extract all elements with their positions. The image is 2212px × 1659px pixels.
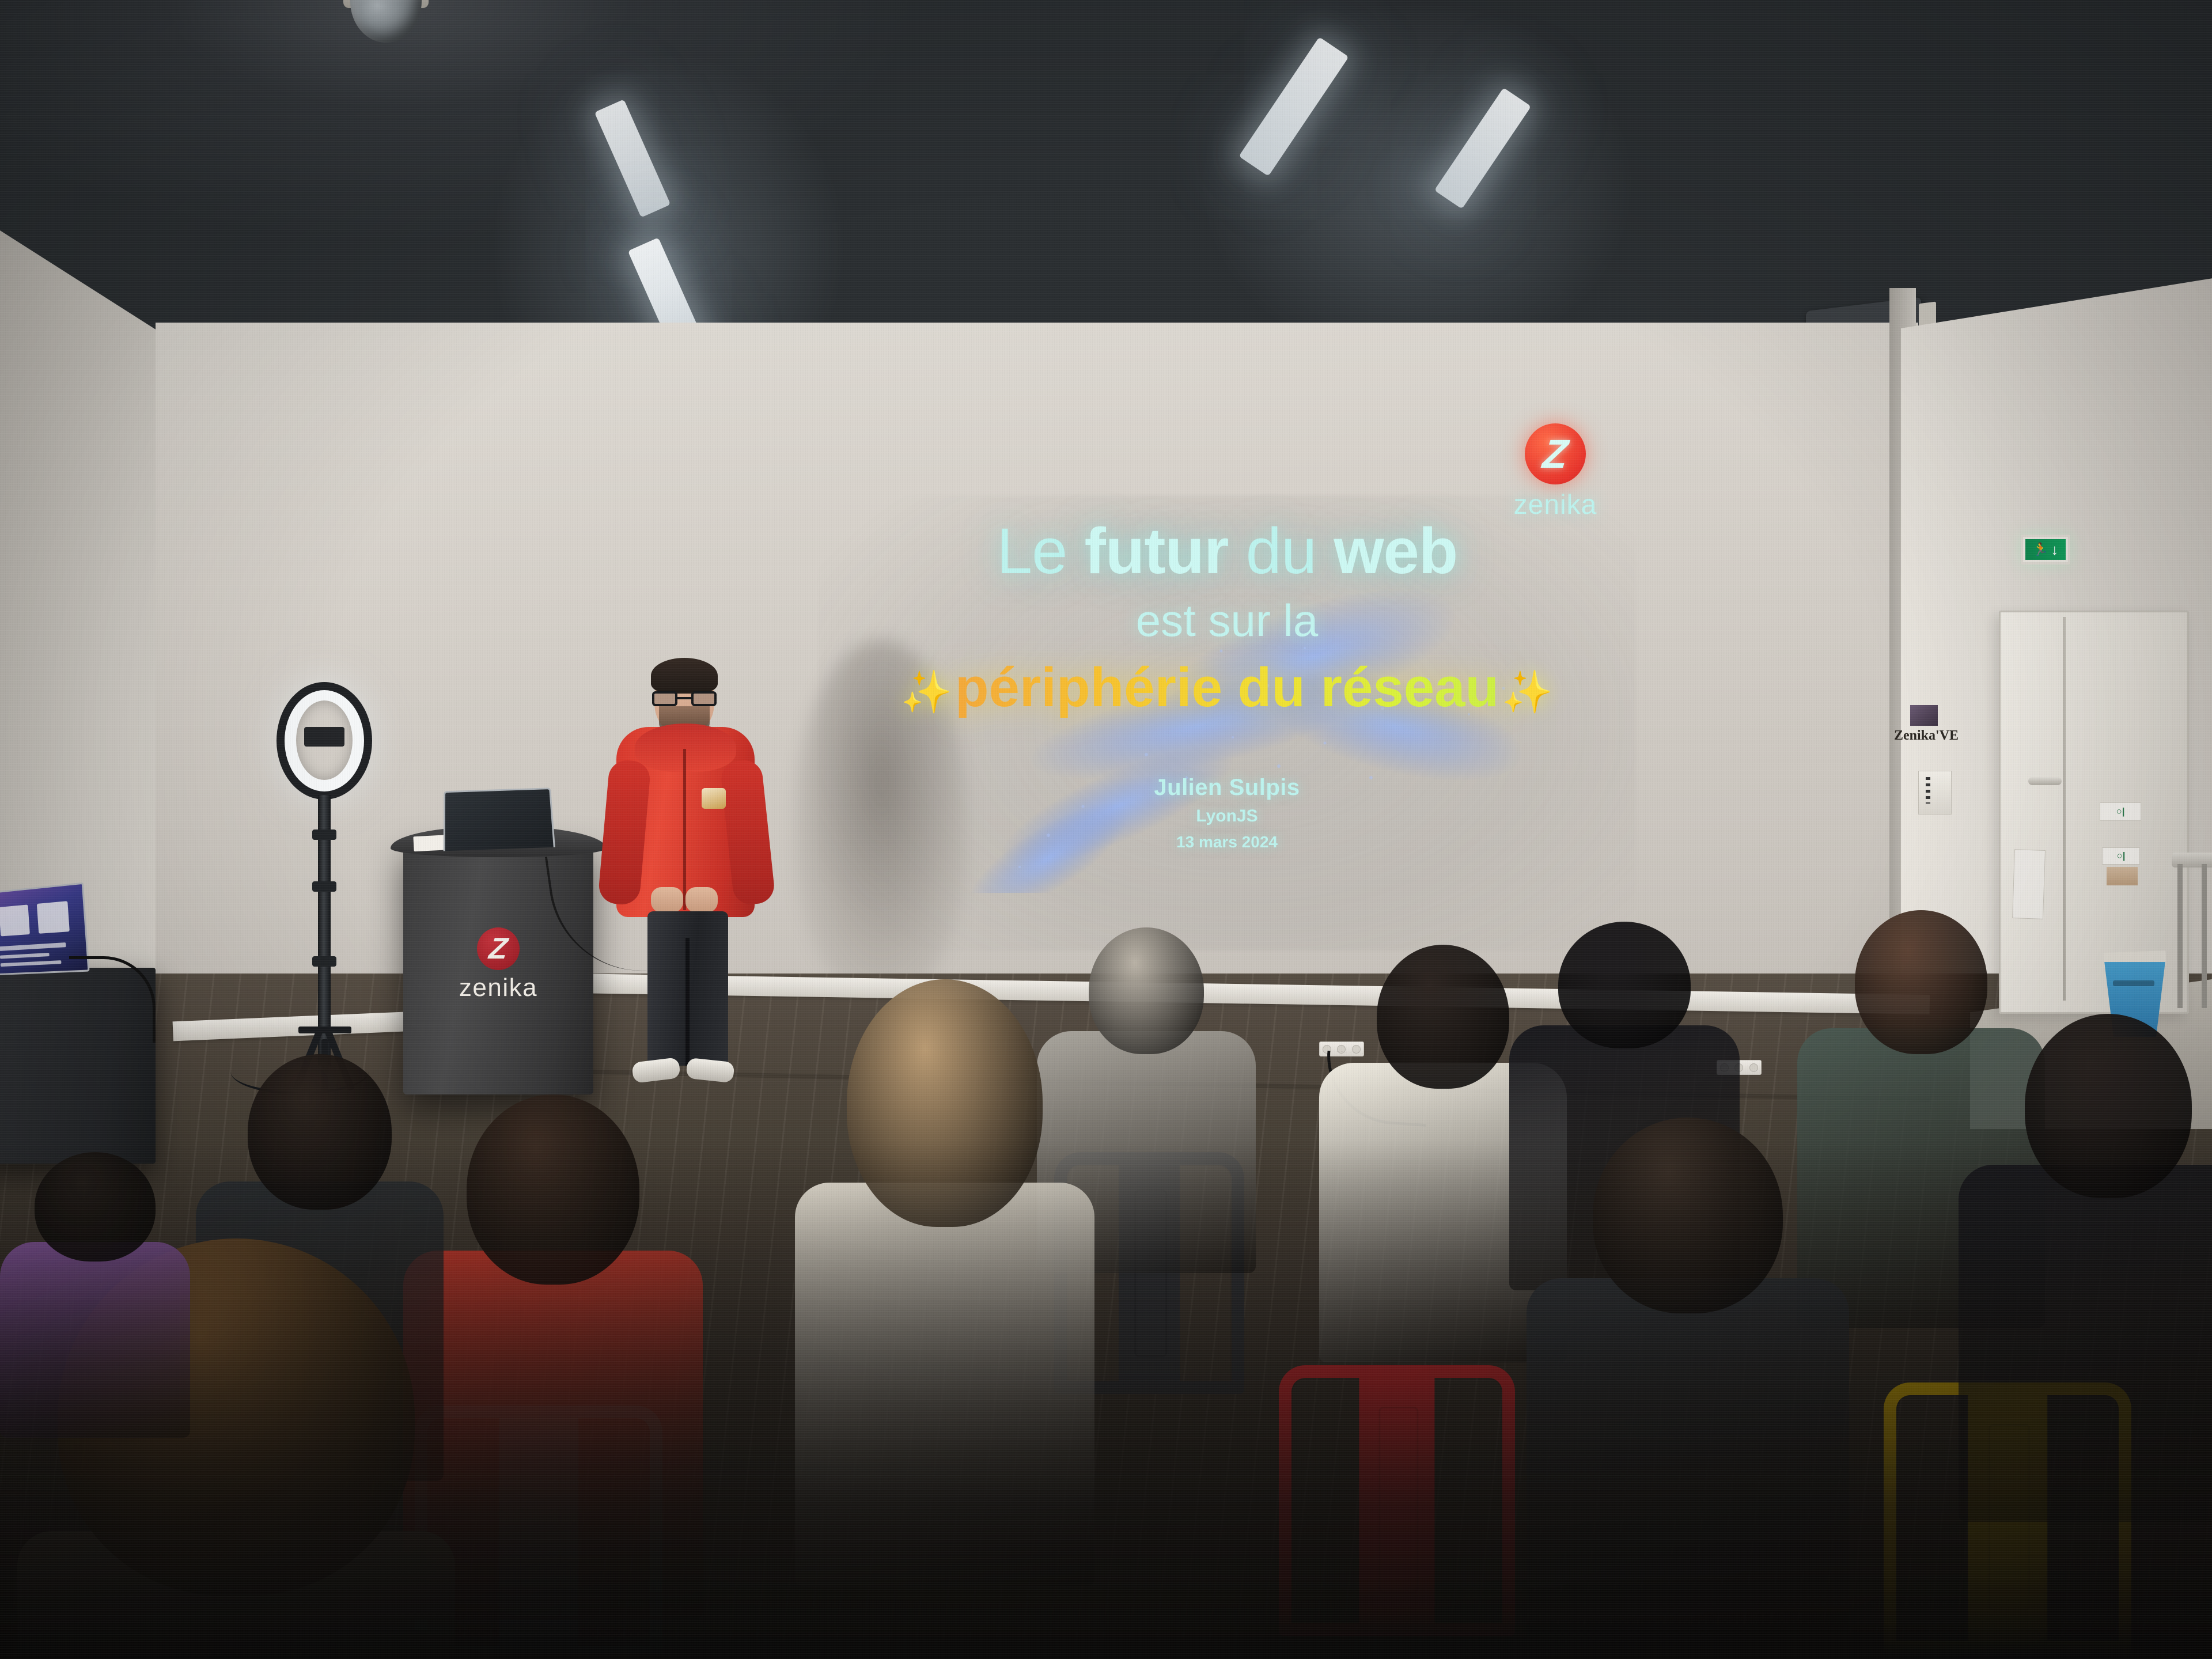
slide-title-highlight: périphérie du réseau	[955, 656, 1499, 719]
ceiling-led-strip	[594, 99, 671, 217]
audience-head	[1089, 927, 1204, 1054]
door-handle[interactable]	[2028, 777, 2062, 785]
presenter-trousers	[647, 911, 728, 1066]
presenter-laptop[interactable]	[444, 787, 555, 851]
switch-dots-icon	[1926, 777, 1930, 804]
slide-date: 13 mars 2024	[818, 833, 1636, 851]
ceiling-led-strip	[1238, 37, 1349, 176]
ceiling-light-glow	[1198, 0, 1636, 369]
slide-title-prefix: Le	[997, 515, 1085, 587]
audience-head	[1377, 945, 1509, 1089]
floor-foreground-shade	[0, 1141, 2212, 1659]
slide-title-mid: du	[1229, 515, 1334, 587]
dome-camera-bubble	[350, 0, 422, 43]
slide-title-line-3-row: ✨ périphérie du réseau ✨	[818, 647, 1636, 719]
slide-title-line-2: est sur la	[818, 594, 1636, 647]
presenter-hand	[685, 887, 718, 912]
glasses-icon	[652, 691, 717, 706]
slide-text-block: Le futur du web est sur la ✨ périphérie …	[818, 518, 1636, 851]
zenika-z-glyph: Z	[475, 927, 522, 970]
presenter-shoe	[685, 1058, 734, 1083]
zenika-wordmark: zenika	[1492, 489, 1619, 521]
slide-zenika-logo: Z zenika	[1492, 423, 1619, 521]
bin-handle	[2113, 980, 2154, 986]
exit-sign-panel: 🏃 ↓	[2025, 539, 2066, 560]
slide-meta: Julien Sulpis LyonJS 13 mars 2024	[818, 775, 1636, 851]
ring-light	[276, 685, 374, 1089]
poster-thumbnail	[1910, 705, 1938, 726]
zenika-wordmark: zenika	[403, 974, 593, 1002]
down-arrow-icon: ↓	[2051, 542, 2058, 557]
dome-camera-icon	[340, 0, 432, 40]
hoodie-zipper	[683, 749, 686, 910]
door-split-line	[2063, 617, 2066, 1001]
presenter	[599, 662, 772, 1100]
wall-light-switch[interactable]	[1918, 771, 1952, 815]
hoodie-logo-badge	[702, 788, 726, 809]
lectern-zenika-logo: Z zenika	[403, 927, 593, 1002]
door-sign-bottom: ○|	[2102, 847, 2140, 865]
conference-room-photo: Le futur du web est sur la ✨ périphérie …	[0, 0, 2212, 1659]
slide-organization: LyonJS	[818, 806, 1636, 826]
slide-title-line-1: Le futur du web	[818, 518, 1636, 584]
sparkle-left-icon: ✨	[901, 669, 953, 715]
emergency-exit-sign: 🏃 ↓	[2021, 535, 2070, 565]
presenter-hair	[651, 658, 718, 694]
zenika-mark-icon: Z	[477, 927, 520, 970]
slide-title-bold-futur: futur	[1085, 515, 1229, 587]
zenika-mark-icon: Z	[1525, 423, 1586, 484]
door-sticker	[2107, 867, 2138, 885]
running-person-icon: 🏃	[2033, 543, 2048, 556]
metal-stool	[2172, 853, 2212, 1014]
door-paper-note	[2012, 849, 2046, 919]
ring-light-hub	[304, 727, 344, 747]
zenika-z-glyph: Z	[1521, 423, 1589, 484]
ceiling-led-strip	[1434, 88, 1531, 209]
presenter-shoe	[631, 1057, 681, 1084]
slide-author: Julien Sulpis	[818, 775, 1636, 801]
audience-head	[1558, 922, 1691, 1048]
wall-poster-zenika-ve: Zenika'VE	[1894, 705, 1956, 756]
slide-title-bold-web: web	[1334, 515, 1457, 587]
sparkle-right-icon: ✨	[1502, 669, 1554, 715]
presenter-hand	[651, 887, 683, 912]
door-sign-top: ○|	[2100, 802, 2141, 821]
poster-caption: Zenika'VE	[1894, 728, 1956, 744]
